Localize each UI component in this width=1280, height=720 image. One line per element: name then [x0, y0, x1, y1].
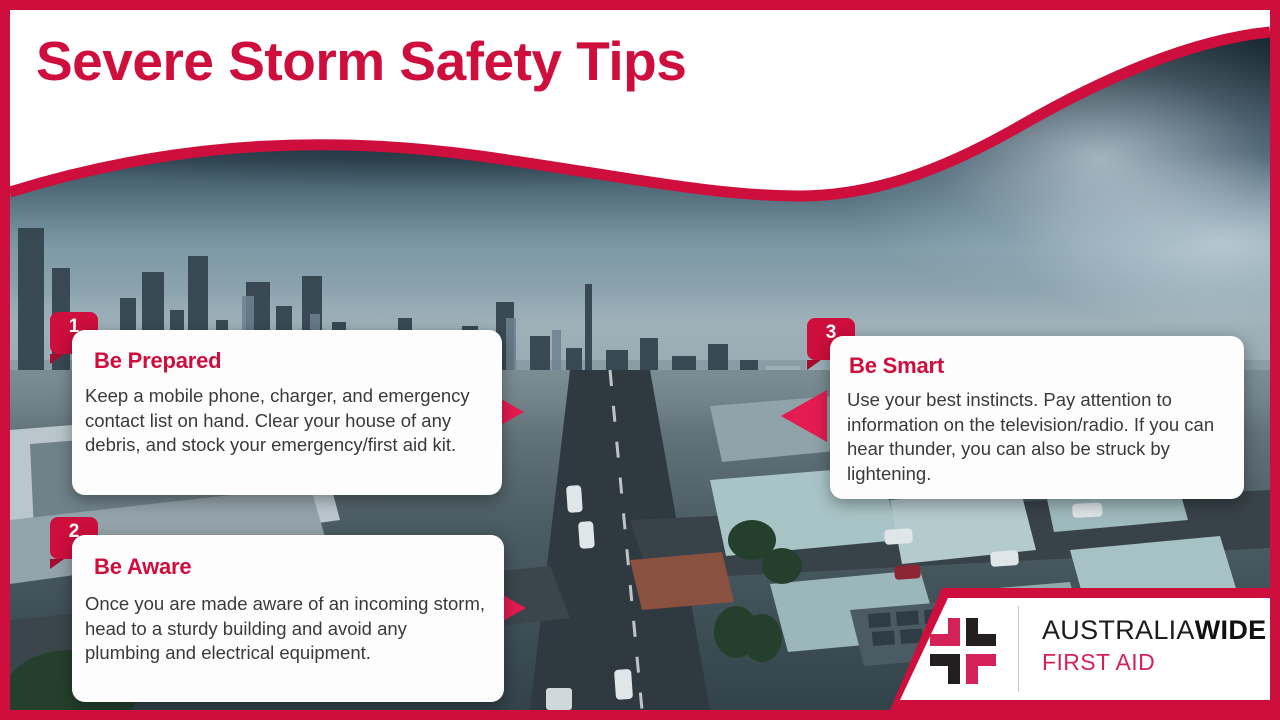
logo-brand-bold: WIDE	[1195, 615, 1267, 645]
brand-logo-plate[interactable]: AUSTRALIAWIDE FIRST AID	[890, 588, 1270, 710]
card-2-heading: Be Aware	[94, 554, 191, 580]
card-1-body: Keep a mobile phone, charger, and emerge…	[85, 384, 487, 458]
tip-card-1[interactable]: Be Prepared Keep a mobile phone, charger…	[72, 330, 502, 495]
page-title: Severe Storm Safety Tips	[36, 30, 686, 93]
card-2-body: Once you are made aware of an incoming s…	[85, 592, 487, 666]
card-3-pointer	[781, 390, 827, 442]
logo-wordmark: AUSTRALIAWIDE FIRST AID	[1042, 616, 1266, 676]
logo-divider	[1018, 606, 1019, 692]
tip-card-2[interactable]: Be Aware Once you are made aware of an i…	[72, 535, 504, 702]
card-1-heading: Be Prepared	[94, 348, 221, 374]
poster-frame: SCHOOL ZONE Severe Storm Safety Tips 1 B…	[0, 0, 1280, 720]
logo-tagline: FIRST AID	[1042, 649, 1266, 676]
card-3-body: Use your best instincts. Pay attention t…	[847, 388, 1233, 486]
card-3-heading: Be Smart	[849, 353, 944, 379]
tip-card-3[interactable]: Be Smart Use your best instincts. Pay at…	[830, 336, 1244, 499]
logo-brand-light: AUSTRALIA	[1042, 615, 1195, 645]
logo-brand-line: AUSTRALIAWIDE	[1042, 616, 1266, 644]
poster-stage: SCHOOL ZONE Severe Storm Safety Tips 1 B…	[10, 10, 1270, 710]
first-aid-cross-icon	[926, 614, 1000, 688]
